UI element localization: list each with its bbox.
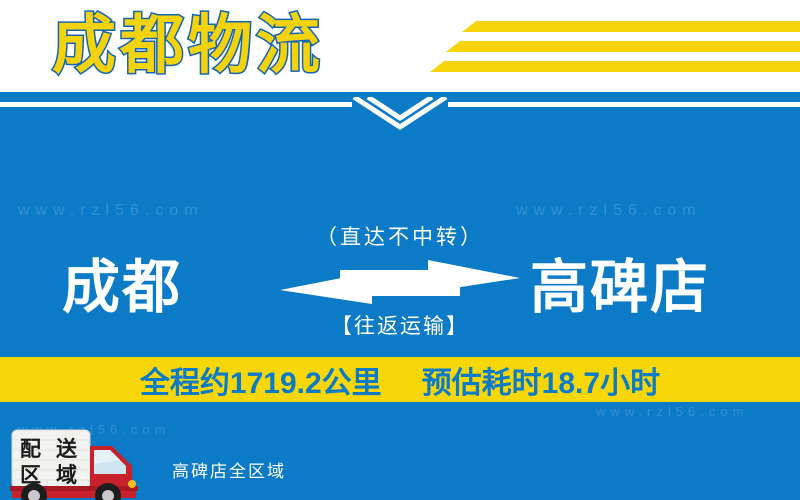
roundtrip-label: 【往返运输】	[270, 313, 530, 341]
double-chevron-down-icon	[352, 97, 448, 133]
duration-value: 预估耗时18.7小时	[422, 358, 660, 402]
header: 成都物流	[0, 0, 800, 92]
direct-service-label: （直达不中转）	[270, 224, 530, 252]
diagonal-stripes-decoration	[410, 16, 800, 82]
origin-city: 成都	[62, 252, 182, 324]
stats-band: 全程约1719.2公里 预估耗时18.7小时	[0, 357, 800, 402]
svg-text:域: 域	[56, 463, 77, 487]
watermark: www.rzl56.com	[596, 404, 748, 419]
svg-text:配: 配	[20, 438, 41, 461]
main-blue-panel: www.rzl56.com www.rzl56.com www.rzl56.co…	[0, 92, 800, 500]
bidirectional-arrows-icon	[270, 258, 530, 306]
route-center-block: （直达不中转） 【往返运输】	[270, 224, 530, 341]
stripe-1	[462, 21, 800, 32]
stripe-3	[430, 61, 800, 72]
watermark: www.rzl56.com	[516, 202, 702, 220]
distance-value: 全程约1719.2公里	[140, 358, 382, 402]
svg-text:区: 区	[20, 464, 41, 487]
watermark: www.rzl56.com	[18, 202, 204, 220]
delivery-coverage-label: 高碑店全区域	[172, 457, 286, 482]
page-title: 成都物流	[52, 2, 324, 88]
logistics-poster: 成都物流 www.rzl56.com www.rzl56.com www.rzl…	[0, 0, 800, 500]
destination-city: 高碑店	[530, 252, 710, 324]
svg-text:送: 送	[56, 437, 78, 461]
delivery-truck-icon: 配 送 区 域	[8, 424, 158, 500]
stripe-2	[446, 41, 800, 52]
